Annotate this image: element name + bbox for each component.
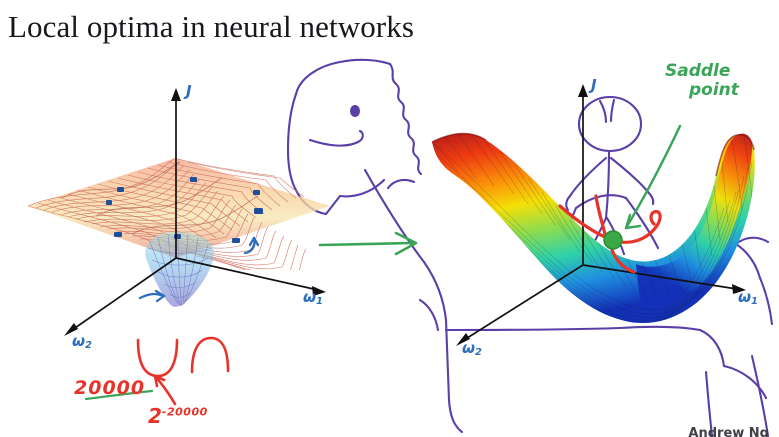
horse-mane bbox=[390, 64, 421, 174]
horse-back-right bbox=[736, 244, 760, 278]
note-dimension-count: 20000 bbox=[74, 377, 145, 399]
descent-path-down bbox=[610, 244, 634, 272]
presenter-credit: Andrew Ng bbox=[688, 426, 769, 437]
saddle-surface bbox=[432, 133, 755, 324]
global-minimum-bowl bbox=[145, 232, 214, 307]
saddle-strap bbox=[576, 195, 626, 208]
arrow-to-convex bbox=[155, 376, 175, 404]
horse-hind-leg-2 bbox=[752, 356, 768, 436]
saddle-point-marker bbox=[604, 231, 622, 249]
right-axis-label-j: J bbox=[591, 76, 597, 94]
local-optima-markers bbox=[106, 177, 263, 243]
saddle-point-label-line1: Saddle bbox=[665, 62, 739, 81]
doodle-layer bbox=[0, 0, 779, 437]
page-title: Local optima in neural networks bbox=[8, 8, 414, 46]
arrow-to-global-min bbox=[140, 294, 164, 298]
right-surface-plot bbox=[0, 0, 779, 437]
arrow-to-local-optima bbox=[245, 238, 255, 253]
horse-tail bbox=[724, 366, 766, 398]
rider-head bbox=[579, 97, 641, 151]
horse-head-outline bbox=[296, 60, 390, 94]
right-axis-label-w1: ω1 bbox=[738, 288, 758, 307]
horse-hind-quarters bbox=[620, 327, 700, 330]
descent-path-up bbox=[596, 196, 606, 238]
transition-arrow bbox=[320, 243, 412, 245]
descent-path-right bbox=[612, 212, 660, 243]
concave-cap-glyph bbox=[192, 338, 228, 372]
left-axes bbox=[72, 96, 318, 330]
rider-arm-left bbox=[570, 158, 606, 196]
transition-arrow-layer bbox=[0, 0, 779, 437]
left-surface-plot bbox=[0, 0, 779, 437]
slide-canvas: Local optima in neural networks bbox=[0, 0, 779, 437]
saddle-point-label: Saddle point bbox=[665, 62, 739, 100]
left-axis-label-w2: ω2 bbox=[72, 332, 92, 351]
rider-torso bbox=[606, 152, 609, 218]
horse-eye bbox=[350, 105, 360, 117]
horse-front-leg bbox=[446, 320, 449, 400]
left-axis-label-j: J bbox=[186, 82, 192, 100]
rider-hair bbox=[600, 101, 606, 122]
red-notes-layer bbox=[0, 0, 779, 437]
note-probability: 2-20000 bbox=[148, 404, 208, 428]
horse-back-left bbox=[388, 180, 414, 188]
right-axes bbox=[464, 92, 737, 340]
horse-muzzle bbox=[310, 131, 363, 146]
saddle-pointer-arrow bbox=[626, 126, 680, 228]
left-axis-label-w1: ω1 bbox=[303, 288, 323, 307]
ripple-surface bbox=[28, 158, 330, 307]
horse-neck bbox=[365, 170, 424, 262]
horse-belly bbox=[446, 328, 620, 330]
rider-leg-left bbox=[586, 218, 606, 258]
descent-path-left bbox=[560, 206, 612, 240]
rider-leg-right bbox=[607, 218, 624, 254]
rider-arm-right bbox=[611, 158, 648, 192]
convex-u-glyph bbox=[138, 340, 177, 376]
right-axis-label-w2: ω2 bbox=[462, 339, 482, 358]
saddle-point-label-line2: point bbox=[689, 81, 739, 100]
